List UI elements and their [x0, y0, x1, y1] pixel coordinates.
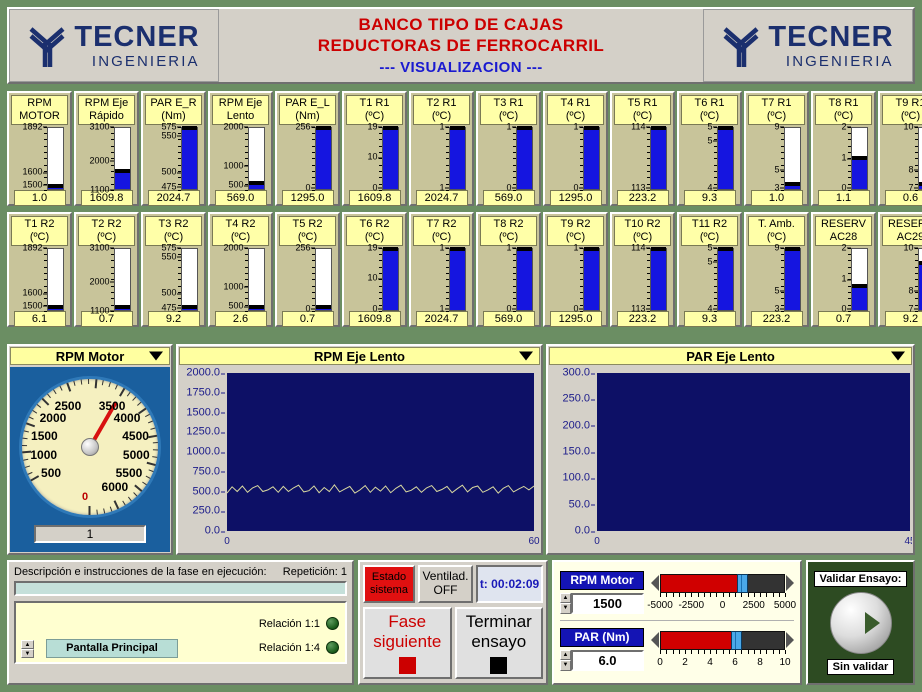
gauge-body: 189216001500 [9, 246, 70, 311]
gauge-tick-label: 475 [161, 182, 176, 191]
gauge-ticks: 20001000500 [217, 127, 244, 190]
terminar-ensayo-button[interactable]: Terminar ensayo [455, 607, 544, 679]
gauge-rpm-eje: RPM EjeRápido3100200011001609.8 [74, 91, 139, 206]
gauge-t6-r1: T6 R1(ºC)5549.3 [677, 91, 742, 206]
gauge-body: 10 [478, 246, 539, 311]
slider-tick-label: 10 [779, 657, 790, 668]
gauge-tick-label: 2000 [223, 122, 243, 131]
gauge-name: T. Amb. [749, 218, 804, 231]
gauge-rpm: RPMMOTOR1892160015001.0 [7, 91, 72, 206]
gauge-t11-r2: T11 R2(ºC)5549.3 [677, 212, 742, 327]
slider-bar[interactable] [660, 631, 785, 650]
gauge-body: 10 [545, 125, 606, 190]
gauge-cap [182, 126, 197, 130]
gauge-bar [47, 127, 64, 190]
gauge-fill [182, 130, 197, 189]
slider-ticks [660, 593, 785, 600]
header-title-block: BANCO TIPO DE CAJAS REDUCTORAS DE FERROC… [219, 9, 703, 82]
fase-line-1: Fase [388, 612, 426, 631]
gauge-tick-label: 1100 [90, 185, 109, 194]
gauge-ticks: 114113 [619, 127, 646, 190]
y-axis-tick-label: 500.0 [179, 486, 220, 497]
fase-siguiente-button[interactable]: Fase siguiente [363, 607, 452, 679]
gauge-name: T4 R2 [213, 218, 268, 231]
y-axis-tick-label: 0.0 [179, 526, 220, 537]
gauge-ticks: 10 [552, 248, 579, 311]
gauge-par-e-l: PAR E_L(Nm)25601295.0 [275, 91, 340, 206]
terminar-line-1: Terminar [466, 612, 532, 631]
gauge-tick-label: 1600 [22, 168, 42, 177]
relation-1-4-row: Relación 1:4 [259, 641, 339, 654]
gauge-tick-label: 1892 [22, 122, 42, 131]
gauge-cap [718, 247, 733, 251]
gauge-cap [517, 126, 532, 130]
slider-stepper[interactable]: ▲▼ [560, 650, 571, 671]
gauge-bar [918, 248, 922, 311]
gauge-bar [449, 127, 466, 190]
slider-thumb[interactable] [731, 631, 742, 650]
gauge-cap [785, 182, 800, 186]
validation-title: Validar Ensayo: [814, 571, 908, 587]
slider-group-rpm-motor: RPM Motor▲▼1500-5000-2500025005000 [560, 566, 794, 618]
stepper-down-icon[interactable]: ▼ [560, 660, 571, 671]
relation-1-4-label: Relación 1:4 [259, 642, 320, 654]
gauge-cap [115, 305, 130, 309]
gauge-tick-label: 10 [367, 153, 377, 162]
gauge-ticks: 189216001500 [16, 127, 43, 190]
gauge-tick-label: 550 [161, 131, 176, 140]
gauge-cap [785, 247, 800, 251]
y-axis-tick-label: 200.0 [549, 420, 590, 431]
gauge-cap [48, 305, 63, 309]
gauge-name: RPM Eje [79, 97, 134, 110]
gauge-t7-r2: T7 R2(ºC)112024.7 [409, 212, 474, 327]
gauge-bar [784, 248, 801, 311]
gauge-cap [383, 247, 398, 251]
dial-tick [90, 447, 91, 515]
gauge-name: RPM [12, 97, 67, 110]
ventilador-line-2: OFF [434, 584, 458, 598]
plot-canvas [227, 373, 534, 531]
description-panel: Descripción e instrucciones de la fase e… [7, 560, 354, 685]
stepper-up-icon[interactable]: ▲ [560, 650, 571, 661]
gauge-name: T4 R1 [548, 97, 603, 110]
gauge-bar [248, 127, 265, 190]
y-axis-tick-label: 50.0 [549, 499, 590, 510]
relation-1-4-led-icon [326, 641, 339, 654]
slider-bar[interactable] [660, 574, 785, 593]
gauge-body: 575550500475 [143, 125, 204, 190]
gauge-bar [650, 248, 667, 311]
gauge-cap [919, 261, 922, 265]
gauge-tick-label: 500 [161, 168, 176, 177]
gauge-t5-r2: T5 R2(ºC)25600.7 [275, 212, 340, 327]
gauge-fill [517, 251, 532, 310]
gauge-cap [584, 247, 599, 251]
gauge-body: 554 [679, 125, 740, 190]
gauge-fill [919, 265, 922, 310]
gauge-fill [718, 130, 733, 189]
estado-line-2: sistema [370, 584, 408, 597]
gauge-par-e-r: PAR E_R(Nm)5755505004752024.7 [141, 91, 206, 206]
gauge-body: 2560 [277, 246, 338, 311]
title-line-1: BANCO TIPO DE CAJAS [358, 15, 563, 36]
gauge-ticks: 114113 [619, 248, 646, 311]
dial-panel-title-bar[interactable]: RPM Motor [10, 347, 170, 365]
gauge-fill [785, 251, 800, 310]
dial-body: 0 50010001500200025003500400045005000550… [10, 367, 170, 552]
gauge-ticks: 19100 [351, 248, 378, 311]
gauge-bar [918, 127, 922, 190]
gauge-fill [517, 130, 532, 189]
gauge-cap [182, 305, 197, 309]
chart2-title-bar[interactable]: PAR Eje Lento [549, 347, 912, 365]
gauge-label: RESERVAC29 [882, 216, 922, 246]
scroll-spinner[interactable]: ▲ ▼ [21, 640, 34, 658]
gauge-cap [718, 126, 733, 130]
gauge-reserv: RESERVAC2910879.2 [878, 212, 922, 327]
gauge-name: RESERV [883, 218, 922, 231]
gauge-fill [450, 130, 465, 189]
gauge-bar [516, 248, 533, 311]
gauge-fill [182, 309, 197, 310]
slider-tick-label: 4 [707, 657, 713, 668]
y-axis-tick-label: 2000.0 [179, 368, 220, 379]
gauge-body: 19100 [344, 125, 405, 190]
gauge-cap [249, 305, 264, 309]
slider-divider [560, 620, 794, 621]
gauge-t2-r2: T2 R2(ºC)3100200011000.7 [74, 212, 139, 327]
gauge-fill [249, 309, 264, 310]
gauge-cap [383, 126, 398, 130]
gauge-fill [852, 160, 867, 189]
gauge-tick-label: 500 [228, 302, 243, 311]
bottom-control-area: Descripción e instrucciones de la fase e… [7, 560, 915, 685]
gauge-bar [114, 248, 131, 311]
gauge-body: 2560 [277, 125, 338, 190]
gauge-name: T2 R2 [79, 218, 134, 231]
gauge-tick-label: 550 [161, 252, 176, 261]
gauge-body: 11 [411, 125, 472, 190]
gauge-body: 19100 [344, 246, 405, 311]
gauge-body: 953 [746, 246, 807, 311]
gauge-tick-label: 114 [631, 243, 645, 252]
gauge-bar [650, 127, 667, 190]
logo-right-name: TECNER [768, 23, 893, 52]
gauge-row-2: T1 R2(ºC)1892160015006.1T2 R2(ºC)3100200… [7, 212, 922, 327]
gauge-bar [583, 127, 600, 190]
gauge-fill [383, 251, 398, 310]
slider-group-par-nm: PAR (Nm)▲▼6.00246810 [560, 623, 794, 675]
slider-right-arrow-icon[interactable] [786, 632, 794, 648]
gauge-tick-label: 1000 [223, 161, 243, 170]
chevron-down-icon[interactable] [891, 352, 905, 361]
control-buttons-panel: Estado sistema Ventilad. OFF t: 00:02:09… [358, 560, 548, 685]
chevron-down-icon[interactable] [149, 352, 163, 361]
rpm-dial-gauge: 0 50010001500200025003500400045005000550… [19, 376, 161, 518]
gauge-name: PAR E_R [146, 97, 201, 110]
gauge-tick-label: 500 [228, 181, 243, 190]
gauge-fill [584, 251, 599, 310]
gauge-bar [784, 127, 801, 190]
gauge-name: PAR E_L [280, 97, 335, 110]
plot-series-line [227, 373, 534, 531]
notes-area[interactable]: Relación 1:1 Relación 1:4 ▲ ▼ Pantalla P… [14, 601, 347, 664]
slider-tick-label: -5000 [647, 600, 673, 611]
slider-fill [661, 575, 741, 592]
x-axis-tick-label: 0 [224, 536, 230, 547]
gauge-ticks: 10 [485, 127, 512, 190]
slider-tick-labels: -5000-2500025005000 [660, 600, 785, 611]
slider-left-arrow-icon[interactable] [651, 632, 659, 648]
gauge-value: 2024.7 [148, 190, 200, 206]
gauge-name: T9 R2 [548, 218, 603, 231]
slider-title: PAR (Nm) [560, 628, 644, 647]
gauge-name: T11 R2 [682, 218, 737, 231]
logo-right-sub: INGENIERIA [768, 54, 893, 69]
x-axis-tick-label: 0 [594, 536, 600, 547]
gauge-body: 189216001500 [9, 125, 70, 190]
gauge-body: 575550500475 [143, 246, 204, 311]
relation-1-1-row: Relación 1:1 [259, 617, 339, 630]
gauge-ticks: 11 [418, 248, 445, 311]
gauge-cap [919, 182, 922, 186]
rpm-motor-dial-panel: RPM Motor 0 5001000150020002500350040004… [7, 344, 173, 555]
gauge-tick-label: 19 [367, 122, 377, 131]
gauge-body: 10 [545, 246, 606, 311]
chart2-body[interactable]: 300.0250.0200.0150.0100.050.00.0045 [549, 367, 912, 552]
slider-value-input[interactable]: 6.0 [571, 650, 644, 671]
gauge-body: 1087 [880, 125, 922, 190]
fase-line-2: siguiente [373, 632, 441, 651]
dial-panel-title: RPM Motor [56, 349, 125, 364]
gauge-t-amb: T. Amb.(ºC)953223.2 [744, 212, 809, 327]
gauge-cap [852, 156, 867, 160]
gauge-t8-r1: T8 R1(ºC)2101.1 [811, 91, 876, 206]
gauge-tick-label: 10 [367, 274, 377, 283]
slider-tick-label: 2 [682, 657, 688, 668]
gauge-bar [114, 127, 131, 190]
gauge-t6-r2: T6 R2(ºC)191001609.8 [342, 212, 407, 327]
estado-sistema-button[interactable]: Estado sistema [363, 565, 415, 603]
slider-track-row[interactable] [651, 573, 794, 593]
description-label: Descripción e instrucciones de la fase e… [14, 566, 267, 578]
plot-canvas [597, 373, 910, 531]
gauge-body: 1087 [880, 246, 922, 311]
y-axis-tick-label: 1500.0 [179, 407, 220, 418]
y-axis-tick-label: 1000.0 [179, 447, 220, 458]
gauge-bar [315, 248, 332, 311]
gauge-t4-r1: T4 R1(ºC)101295.0 [543, 91, 608, 206]
validation-knob[interactable] [830, 592, 892, 654]
y-axis-tick-label: 100.0 [549, 473, 590, 484]
gauge-t9-r1: T9 R1(ºC)10870.6 [878, 91, 922, 206]
gauge-bar [851, 248, 868, 311]
gauge-tick-label: 113 [631, 183, 645, 192]
y-axis-tick-label: 250.0 [549, 394, 590, 405]
gauge-cap [584, 126, 599, 130]
fase-indicator-square [399, 657, 416, 674]
gauge-value: 0.6 [885, 190, 922, 206]
gauge-name: T5 R1 [615, 97, 670, 110]
slider-left-arrow-icon[interactable] [651, 575, 659, 591]
chart1-title-bar[interactable]: RPM Eje Lento [179, 347, 540, 365]
gauge-fill [718, 251, 733, 310]
gauge-ticks: 310020001100 [83, 248, 110, 311]
gauge-bar [181, 127, 198, 190]
gauge-name: RPM Eje [213, 97, 268, 110]
estado-line-1: Estado [372, 571, 406, 584]
gauge-value: 9.2 [885, 311, 922, 327]
gauge-bar [47, 248, 64, 311]
dial-value-display: 1 [34, 525, 146, 543]
gauge-fill [919, 186, 922, 188]
gauge-fill [316, 309, 331, 310]
gauge-cap [115, 169, 130, 173]
gauge-fill [450, 251, 465, 310]
tab-pantalla-principal[interactable]: Pantalla Principal [46, 639, 178, 658]
gauge-t2-r1: T2 R1(ºC)112024.7 [409, 91, 474, 206]
gauge-row-1: RPMMOTOR1892160015001.0RPM EjeRápido3100… [7, 91, 922, 206]
stepper-up-icon[interactable]: ▲ [560, 593, 571, 604]
gauge-ticks: 554 [686, 127, 713, 190]
gauge-fill [852, 288, 867, 309]
validation-panel: Validar Ensayo: Sin validar [806, 560, 915, 685]
gauge-name: T2 R1 [414, 97, 469, 110]
gauge-tick-label: 3100 [89, 243, 109, 252]
gauge-cap [651, 126, 666, 130]
gauge-ticks: 19100 [351, 127, 378, 190]
spinner-up-icon[interactable]: ▲ [21, 640, 34, 649]
gauge-body: 20001000500 [210, 246, 271, 311]
gauge-ticks: 11 [418, 127, 445, 190]
title-line-2: REDUCTORAS DE FERROCARRIL [318, 36, 604, 57]
gauge-ticks: 575550500475 [150, 248, 177, 311]
gauge-tick-label: 256 [295, 243, 310, 252]
gauge-t7-r1: T7 R1(ºC)9531.0 [744, 91, 809, 206]
gauge-bar [851, 127, 868, 190]
y-axis-tick-label: 1750.0 [179, 387, 220, 398]
gauge-cap [517, 247, 532, 251]
chart-area: RPM Motor 0 5001000150020002500350040004… [7, 344, 915, 555]
gauge-ticks: 1087 [887, 248, 914, 311]
gauge-tick-label: 10 [903, 243, 913, 252]
description-input[interactable] [14, 581, 347, 596]
gauge-ticks: 189216001500 [16, 248, 43, 311]
stepper-down-icon[interactable]: ▼ [560, 603, 571, 614]
gauge-name: T8 R2 [481, 218, 536, 231]
chart2-plot: 300.0250.0200.0150.0100.050.00.0045 [549, 367, 912, 552]
gauge-ticks: 20001000500 [217, 248, 244, 311]
x-axis-tick-label: 60 [528, 536, 539, 547]
gauge-value: 1.0 [14, 190, 66, 206]
gauge-name: T1 R1 [347, 97, 402, 110]
gauge-cap [249, 181, 264, 185]
gauge-fill [584, 130, 599, 189]
app-header: TECNER INGENIERIA BANCO TIPO DE CAJAS RE… [7, 7, 915, 84]
tecner-y-logo-icon [722, 23, 762, 69]
slider-stepper[interactable]: ▲▼ [560, 593, 571, 614]
gauge-name: T7 R2 [414, 218, 469, 231]
chart1-body[interactable]: 2000.01750.01500.01250.01000.0750.0500.0… [179, 367, 540, 552]
gauge-tick-label: 114 [631, 122, 645, 131]
gauge-tick-label: 3100 [89, 122, 109, 131]
slider-value-input[interactable]: 1500 [571, 593, 644, 614]
gauge-tick-label: 1600 [22, 289, 42, 298]
gauge-t1-r2: T1 R2(ºC)1892160015006.1 [7, 212, 72, 327]
gauge-tick-label: 19 [367, 243, 377, 252]
gauge-t3-r1: T3 R1(ºC)10569.0 [476, 91, 541, 206]
y-axis-tick-label: 750.0 [179, 466, 220, 477]
gauge-fill [48, 188, 63, 189]
rpm-eje-lento-chart-panel: RPM Eje Lento 2000.01750.01500.01250.010… [176, 344, 543, 555]
gauge-cap [450, 247, 465, 251]
ventilador-button[interactable]: Ventilad. OFF [418, 565, 473, 603]
gauge-tick-label: 1892 [22, 243, 42, 252]
slider-tick-label: 0 [657, 657, 663, 668]
gauge-bar [516, 127, 533, 190]
gauge-reserv: RESERVAC282100.7 [811, 212, 876, 327]
slider-right-arrow-icon[interactable] [786, 575, 794, 591]
gauge-body: 554 [679, 246, 740, 311]
gauge-t1-r1: T1 R1(ºC)191001609.8 [342, 91, 407, 206]
elapsed-timer: t: 00:02:09 [476, 565, 543, 603]
spinner-down-icon[interactable]: ▼ [21, 649, 34, 658]
gauge-cap [316, 305, 331, 309]
gauge-ticks: 2560 [284, 127, 311, 190]
gauge-name: RESERV [816, 218, 871, 231]
relation-1-1-led-icon [326, 617, 339, 630]
gauge-body: 11 [411, 246, 472, 311]
gauge-cap [651, 247, 666, 251]
gauge-name: T6 R1 [682, 97, 737, 110]
gauge-name: T8 R1 [816, 97, 871, 110]
gauge-tick-label: 113 [631, 304, 645, 313]
validation-status: Sin validar [827, 659, 895, 675]
slider-track-row[interactable] [651, 630, 794, 650]
chevron-down-icon[interactable] [519, 352, 533, 361]
gauge-body: 310020001100 [76, 125, 137, 190]
gauge-ticks: 1087 [887, 127, 914, 190]
gauge-value: 9.2 [148, 311, 200, 327]
y-axis-tick-label: 0.0 [549, 526, 590, 537]
gauge-bar [583, 248, 600, 311]
dial-zero-label: 0 [82, 491, 88, 503]
gauge-tick-label: 256 [295, 122, 310, 131]
terminar-line-2: ensayo [471, 632, 526, 651]
gauge-ticks: 953 [753, 127, 780, 190]
gauge-name: T6 R2 [347, 218, 402, 231]
ventilador-line-1: Ventilad. [422, 570, 468, 584]
gauge-fill [383, 130, 398, 189]
gauge-ticks: 575550500475 [150, 127, 177, 190]
repetition-label: Repetición: 1 [283, 566, 347, 578]
gauge-body: 20001000500 [210, 125, 271, 190]
gauge-ticks: 210 [820, 248, 847, 311]
gauge-fill [48, 309, 63, 310]
gauge-value: 6.1 [14, 311, 66, 327]
gauge-name: T3 R1 [481, 97, 536, 110]
slider-thumb[interactable] [737, 574, 748, 593]
gauge-body: 114113 [612, 246, 673, 311]
title-line-3: --- VISUALIZACION --- [379, 59, 542, 76]
gauge-bar [382, 248, 399, 311]
gauge-bar [315, 127, 332, 190]
gauge-cap [450, 126, 465, 130]
gauge-cap [316, 126, 331, 130]
gauge-tick-label: 475 [161, 303, 176, 312]
gauge-bar [449, 248, 466, 311]
